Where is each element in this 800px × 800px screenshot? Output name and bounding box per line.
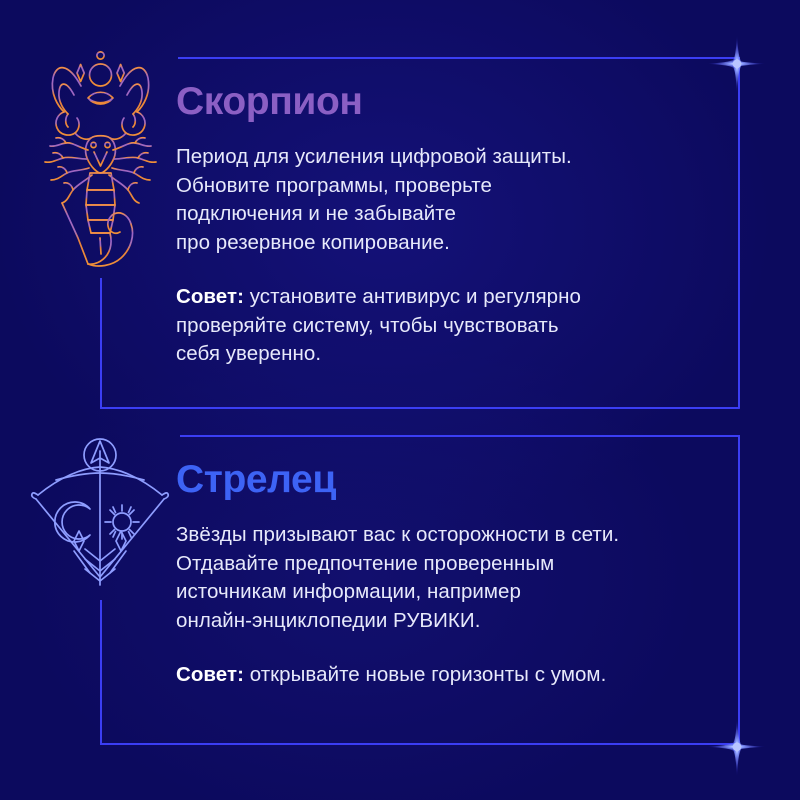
scorpio-content: Скорпион Период для усиления цифровой за…	[176, 82, 716, 369]
scorpio-body-line-4: про резервное копирование.	[176, 229, 716, 258]
sagittarius-body-line-1: Звёзды призывают вас к осторожности в се…	[176, 521, 736, 550]
sagittarius-frame-left-line	[100, 600, 102, 745]
sagittarius-bow-arrow-icon	[30, 437, 170, 592]
scorpio-body-line-3: подключения и не забывайте	[176, 200, 716, 229]
scorpio-tip-text-1: установите антивирус и регулярно	[244, 285, 581, 308]
sagittarius-body: Звёзды призывают вас к осторожности в се…	[176, 521, 736, 635]
sagittarius-tip: Совет: открывайте новые горизонты с умом…	[176, 661, 736, 690]
scorpio-frame-top-line	[178, 57, 740, 59]
sagittarius-tip-label: Совет:	[176, 663, 244, 686]
sagittarius-body-line-4: онлайн-энциклопедии РУВИКИ.	[176, 607, 736, 636]
scorpio-body-line-2: Обновите программы, проверьте	[176, 172, 716, 201]
sagittarius-tip-line-1: Совет: открывайте новые горизонты с умом…	[176, 661, 736, 690]
scorpio-scorpion-icon	[28, 42, 173, 270]
scorpio-body-line-1: Период для усиления цифровой защиты.	[176, 143, 716, 172]
sagittarius-title: Стрелец	[176, 460, 736, 499]
sagittarius-frame-top-line	[180, 435, 740, 437]
scorpio-frame-left-line	[100, 278, 102, 409]
sagittarius-tip-text-1: открывайте новые горизонты с умом.	[244, 663, 606, 686]
poster-stage: Скорпион Период для усиления цифровой за…	[0, 0, 800, 800]
scorpio-tip: Совет: установите антивирус и регулярно …	[176, 283, 716, 369]
sagittarius-body-line-2: Отдавайте предпочтение проверенным	[176, 550, 736, 579]
scorpio-tip-line-2: проверяйте систему, чтобы чувствовать	[176, 312, 716, 341]
four-point-star-icon-bottom-right	[706, 717, 768, 779]
scorpio-tip-line-3: себя уверенно.	[176, 340, 716, 369]
scorpio-title: Скорпион	[176, 82, 716, 121]
scorpio-tip-line-1: Совет: установите антивирус и регулярно	[176, 283, 716, 312]
scorpio-body: Период для усиления цифровой защиты. Обн…	[176, 143, 716, 257]
sagittarius-body-line-3: источникам информации, например	[176, 578, 736, 607]
scorpio-tip-label: Совет:	[176, 285, 244, 308]
sagittarius-content: Стрелец Звёзды призывают вас к осторожно…	[176, 460, 736, 690]
